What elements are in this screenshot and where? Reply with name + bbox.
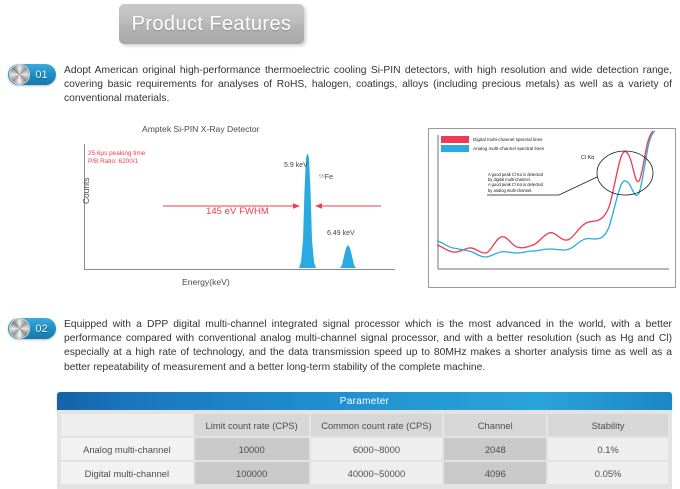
cell-row0-col0: Analog multi-channel bbox=[61, 438, 193, 460]
column-header-stability: Stability bbox=[548, 414, 668, 436]
table-row: Digital multi-channel 100000 40000~50000… bbox=[61, 462, 668, 484]
metal-disc-icon bbox=[9, 64, 30, 85]
chart-comparison-plot bbox=[429, 129, 675, 287]
cell-row0-col4: 0.1% bbox=[548, 438, 668, 460]
page-title: Product Features bbox=[119, 4, 304, 44]
column-header-limit-count-rate: Limit count rate (CPS) bbox=[195, 414, 309, 436]
cell-row0-col1: 10000 bbox=[195, 438, 309, 460]
feature-badge-01: 01 bbox=[8, 64, 56, 85]
cell-row1-col0: Digital multi-channel bbox=[61, 462, 193, 484]
chart-comparison-callout: A good peak Cl Kα is detected by digital… bbox=[488, 172, 543, 193]
feature-number-02: 02 bbox=[30, 323, 56, 335]
table-row: Analog multi-channel 10000 6000~8000 204… bbox=[61, 438, 668, 460]
cell-row1-col2: 40000~50000 bbox=[311, 462, 443, 484]
column-header-common-count-rate: Common count rate (CPS) bbox=[311, 414, 443, 436]
chart-xray-xlabel: Energy(keV) bbox=[182, 277, 230, 287]
table-header-row: Limit count rate (CPS) Common count rate… bbox=[61, 414, 668, 436]
cell-row0-col2: 6000~8000 bbox=[311, 438, 443, 460]
feature-text-01: Adopt American original high-performance… bbox=[64, 64, 672, 107]
cell-row1-col4: 0.05% bbox=[548, 462, 668, 484]
table-header-title: Parameter bbox=[340, 396, 389, 407]
column-header-blank bbox=[61, 414, 193, 436]
chart-comparison-peak-label: Cl Kα bbox=[581, 155, 594, 161]
table-header-bar: Parameter bbox=[57, 392, 672, 410]
page-title-text: Product Features bbox=[132, 13, 292, 36]
chart-xray-title: Amptek Si-PIN X-Ray Detector bbox=[142, 124, 259, 134]
parameter-table-grid: Limit count rate (CPS) Common count rate… bbox=[57, 410, 672, 489]
chart-xray-peak-label-59: 5.9 keV bbox=[284, 162, 308, 169]
feature-text-02: Equipped with a DPP digital multi-channe… bbox=[64, 318, 672, 375]
cell-row1-col3: 4096 bbox=[444, 462, 546, 484]
cell-row1-col1: 100000 bbox=[195, 462, 309, 484]
chart-xray-fwhm-label: 145 eV FWHM bbox=[206, 206, 269, 217]
feature-badge-02: 02 bbox=[8, 318, 56, 339]
chart-xray-peak-label-649: 6.49 keV bbox=[327, 230, 355, 237]
chart-multichannel-comparison: Digital multi-channel spectral lines Ana… bbox=[428, 128, 676, 288]
cell-row0-col3: 2048 bbox=[444, 438, 546, 460]
column-header-channel: Channel bbox=[444, 414, 546, 436]
slide-page: Product Features 01 Adopt American origi… bbox=[0, 0, 680, 485]
title-banner: Product Features bbox=[119, 4, 304, 44]
parameter-table: Parameter Limit count rate (CPS) Common … bbox=[57, 392, 672, 489]
feature-number-01: 01 bbox=[30, 69, 56, 81]
metal-disc-icon bbox=[9, 318, 30, 339]
chart-xray-isotope-label: ⁵⁵Fe bbox=[319, 174, 333, 181]
chart-xray-spectrum: Amptek Si-PIN X-Ray Detector 25.6μs peak… bbox=[62, 122, 414, 294]
